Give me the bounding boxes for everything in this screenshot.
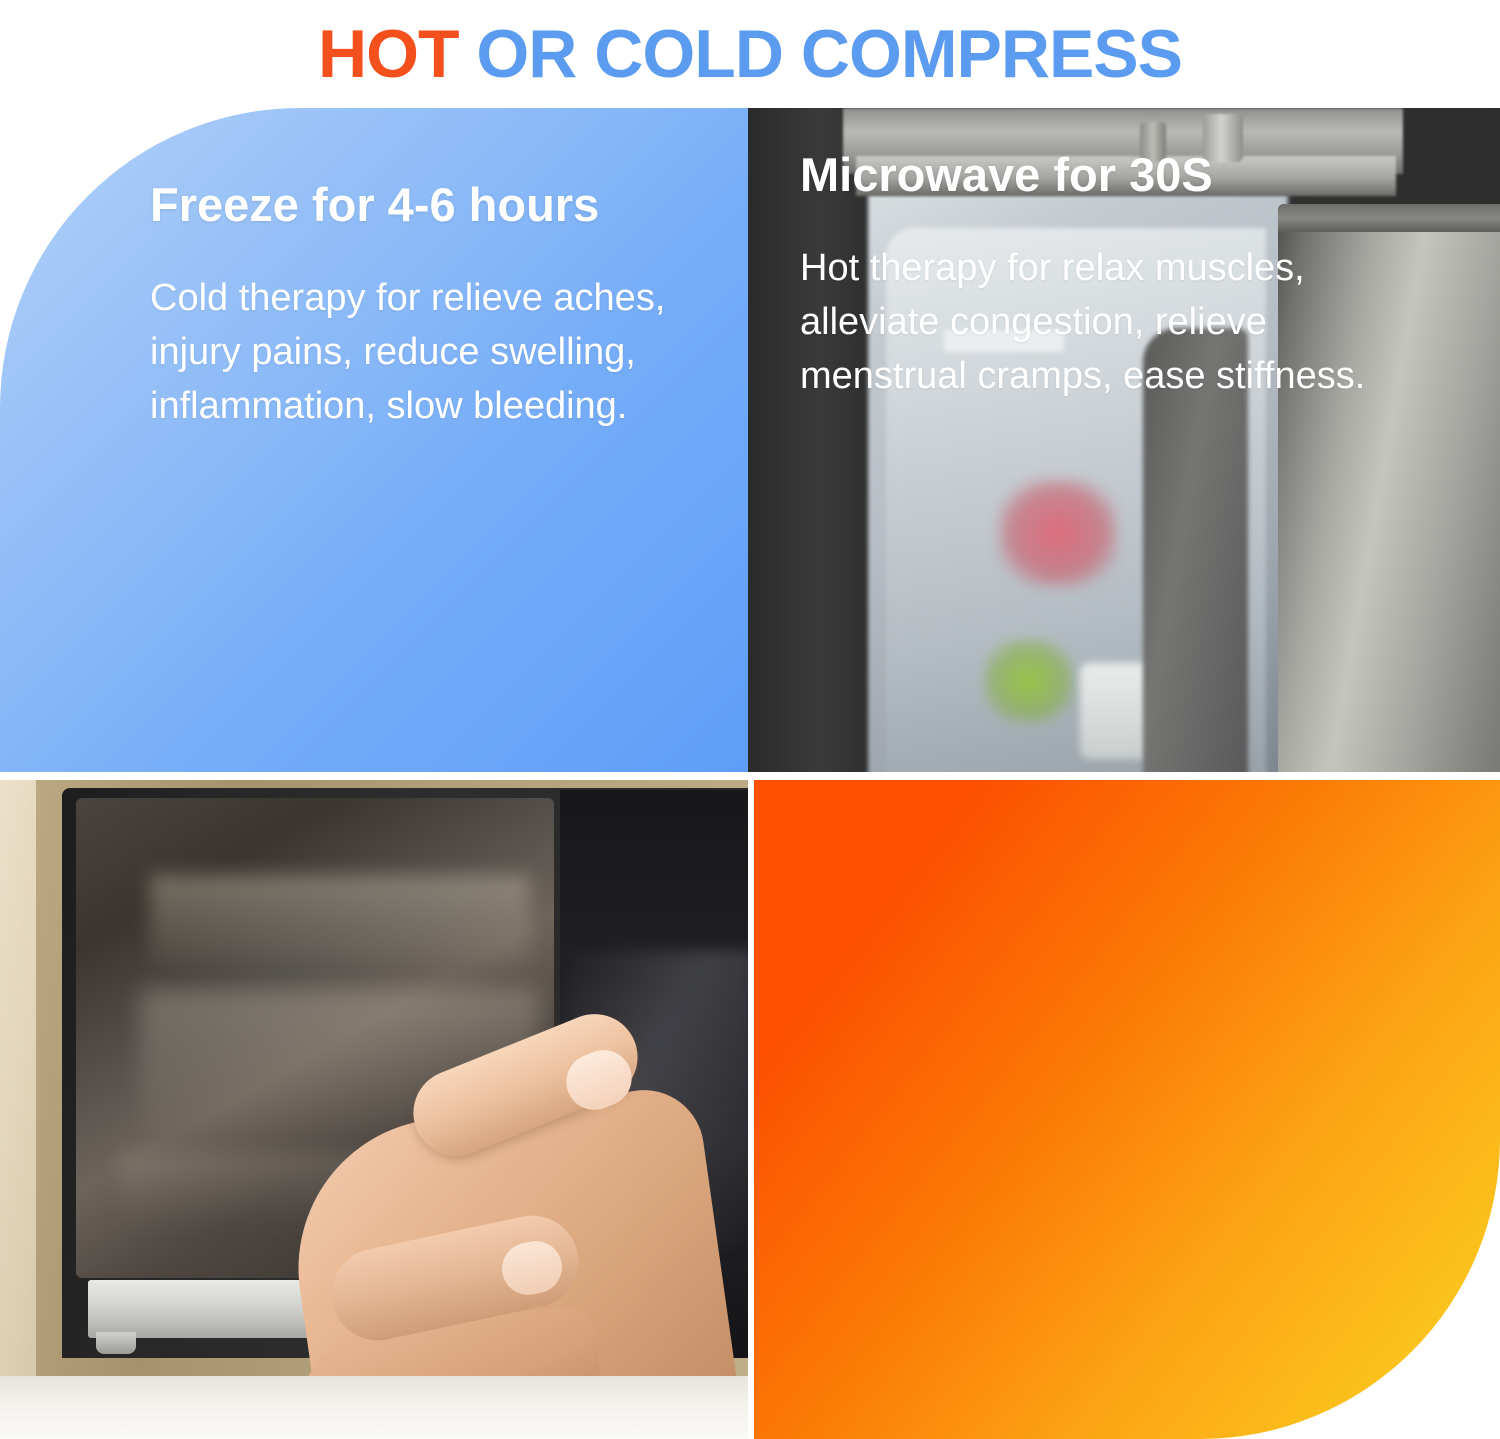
microwave-foot <box>96 1332 136 1354</box>
hot-heading: Microwave for 30S <box>800 148 1400 202</box>
page-title: HOT OR COLD COMPRESS <box>318 20 1182 88</box>
glass-reflection-upper <box>150 875 530 963</box>
page-title-bar: HOT OR COLD COMPRESS <box>0 0 1500 108</box>
hot-therapy-panel <box>752 780 1500 1439</box>
cold-body: Cold therapy for relieve aches, injury p… <box>150 272 725 434</box>
hot-body: Hot therapy for relax muscles, alleviate… <box>800 242 1400 404</box>
fridge-food-item-pink <box>998 478 1118 588</box>
microwave-photo: 12:49 ♨ ⊚ ❅ ◔ ≋ AUTO MENU ❧ ◑ <box>0 780 748 1439</box>
microwave-scene: 12:49 ♨ ⊚ ❅ ◔ ≋ AUTO MENU ❧ ◑ <box>0 780 748 1439</box>
kitchen-counter-surface <box>0 1376 748 1439</box>
fridge-food-item-green <box>983 638 1075 724</box>
cold-heading: Freeze for 4-6 hours <box>150 178 725 232</box>
horizontal-divider <box>0 772 1500 780</box>
cold-therapy-text-block: Freeze for 4-6 hours Cold therapy for re… <box>150 178 725 434</box>
infographic-canvas: HOT OR COLD COMPRESS <box>0 0 1500 1439</box>
page-title-highlight: HOT <box>318 16 459 92</box>
hot-therapy-text-block: Microwave for 30S Hot therapy for relax … <box>800 148 1400 404</box>
vertical-divider <box>748 780 754 1439</box>
page-title-rest: OR COLD COMPRESS <box>459 16 1183 92</box>
